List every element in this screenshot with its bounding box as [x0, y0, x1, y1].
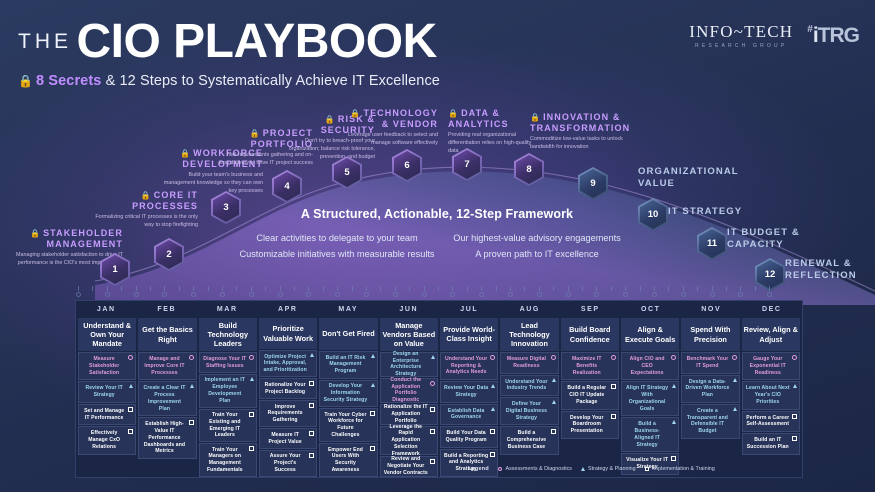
month-column-nov: Spend With PrecisionBenchmark Your IT Sp… [680, 318, 740, 477]
month-column-dec: Review, Align & AdjustGauge Your Exponen… [741, 318, 801, 477]
legend-text: Implementation & Training [652, 466, 715, 472]
tick-dot [422, 292, 427, 297]
square-icon [249, 446, 254, 451]
activity-cell[interactable]: Learn About Next Year's CIO Priorities [742, 381, 800, 409]
month-header-dec: DEC [742, 301, 803, 318]
tick-mark [352, 286, 353, 291]
activity-label: Design an Enterprise Architecture Strate… [384, 351, 428, 378]
activity-cell[interactable]: Measure IT Project Value [259, 428, 317, 449]
square-icon [792, 436, 797, 441]
triangle-icon [491, 384, 495, 388]
activity-label: Conduct the Application Portfolio Diagno… [384, 377, 428, 404]
secret-core-it-processes: 🔒CORE IT PROCESSES Formalizing critical … [95, 190, 198, 230]
month-header-aug: AUG [500, 301, 561, 318]
square-icon [249, 412, 254, 417]
square-icon [611, 414, 616, 419]
step-number-5: 5 [334, 158, 360, 187]
tick-mark [740, 286, 741, 291]
tick-mark [78, 286, 79, 291]
tick-dot [105, 292, 110, 297]
secret-technology-vendor: 🔒TECHNOLOGY & VENDOR Leverage user feedb… [340, 108, 438, 148]
tick-mark [524, 286, 525, 291]
centre-left-line-2: Customizable initiatives with measurable… [237, 246, 437, 262]
activity-label: Implement an IT Employee Development Pla… [203, 377, 247, 404]
activity-label: Rationalize Your Project Backlog [263, 382, 307, 396]
activity-cell[interactable]: Review and Negotiate Your Vendor Contrac… [380, 456, 438, 477]
square-icon [792, 414, 797, 419]
column-heading: Understand & Own Your Mandate [78, 318, 136, 351]
tick-mark [424, 286, 425, 291]
activity-label: Benchmark Your IT Spend [685, 356, 729, 370]
secret-description: Commoditize low-value tasks to unlock ba… [530, 136, 638, 152]
triangle-icon [431, 355, 435, 359]
square-icon [370, 411, 375, 416]
activity-cell[interactable]: Measure Stakeholder Satisfaction [78, 352, 136, 380]
month-header-nov: NOV [681, 301, 742, 318]
activity-label: Set and Manage IT Performance [82, 408, 126, 422]
tick-mark [452, 286, 453, 291]
tick-dot [652, 292, 657, 297]
circle-icon [551, 355, 556, 360]
circle-icon [611, 355, 616, 360]
activity-cell[interactable]: Maximize IT Benefits Realization [561, 352, 619, 380]
centre-col-right: Our highest-value advisory engagements A… [437, 230, 637, 262]
tick-mark [654, 286, 655, 291]
centre-message: A Structured, Actionable, 12-Step Framew… [237, 207, 637, 262]
step-number-4: 4 [274, 172, 300, 201]
tick-mark [380, 286, 381, 291]
tick-mark [308, 286, 309, 291]
activity-cell[interactable]: Gauge Your Exponential IT Readiness [742, 352, 800, 380]
secret-description: Leverage user feedback to select and man… [340, 132, 438, 148]
activity-label: Create a Clear IT Process Improvement Pl… [142, 385, 186, 412]
month-column-sep: Build Board ConfidenceMaximize IT Benefi… [560, 318, 620, 477]
triangle-icon [552, 400, 556, 404]
logo-group: INFO~TECH RESEARCH GROUP # iTRG [689, 22, 859, 49]
tick-dot [710, 292, 715, 297]
triangle-icon [491, 407, 495, 411]
activity-label: Improve Requirements Gathering [263, 404, 307, 424]
month-column-mar: Build Technology LeadersDiagnose Your IT… [198, 318, 258, 477]
square-icon [611, 384, 616, 389]
tick-dot [278, 292, 283, 297]
activity-label: Effectively Manage CxO Relations [82, 430, 126, 450]
activity-cell[interactable]: Conduct the Application Portfolio Diagno… [380, 378, 438, 403]
tick-mark [121, 286, 122, 291]
activity-label: Build a Regular CIO IT Update Package [565, 385, 609, 405]
square-icon [309, 403, 314, 408]
lock-icon: 🔒 [18, 74, 33, 88]
tick-mark [769, 286, 770, 291]
triangle-icon [672, 384, 676, 388]
square-icon [189, 420, 194, 425]
month-header-feb: FEB [137, 301, 198, 318]
tick-mark [568, 286, 569, 291]
activity-label: Build an IT Succession Plan [746, 437, 790, 451]
tick-mark [539, 286, 540, 291]
triangle-icon [371, 354, 375, 358]
column-heading: Spend With Precision [681, 318, 739, 351]
tick-mark [150, 286, 151, 291]
triangle-icon [250, 377, 254, 381]
month-column-may: Don't Get FiredBuild an IT Risk Manageme… [318, 318, 378, 477]
tick-mark [92, 286, 93, 291]
activity-label: Understand Your Industry Trends [504, 379, 548, 393]
step-number-11: 11 [699, 229, 725, 258]
column-heading: Build Technology Leaders [199, 318, 257, 351]
activity-label: Empower End Users With Security Awarenes… [323, 447, 367, 474]
step-number-9: 9 [580, 169, 606, 198]
activity-cell[interactable]: Effectively Manage CxO Relations [78, 426, 136, 454]
triangle-icon [190, 384, 194, 388]
tick-dot [306, 292, 311, 297]
activity-cell[interactable]: Rationalize the IT Application Portfolio [380, 404, 438, 425]
activity-label: Build a Comprehensive Business Case [504, 430, 548, 450]
tick-mark [366, 286, 367, 291]
circle-icon [792, 355, 797, 360]
activity-cell[interactable]: Build an IT Succession Plan [742, 433, 800, 455]
activity-cell[interactable]: Implement an IT Employee Development Pla… [199, 374, 257, 408]
circle-icon [490, 355, 495, 360]
activity-cell[interactable]: Establish High-Value IT Performance Dash… [138, 417, 196, 459]
activity-label: Define Your Digital Business Strategy [504, 401, 548, 421]
activity-label: Perform a Career Self-Assessment [746, 415, 790, 429]
centre-right-line-1: Our highest-value advisory engagements [437, 230, 637, 246]
activity-cell[interactable]: Build Your Data Quality Program [440, 426, 498, 448]
column-heading: Align & Execute Goals [621, 318, 679, 351]
activity-cell[interactable]: Rationalize Your Project Backlog [259, 378, 317, 399]
square-icon [370, 446, 375, 451]
activity-cell[interactable]: Review Your IT Strategy [78, 381, 136, 403]
activity-cell[interactable]: Assure Your Project's Success [259, 450, 317, 477]
timeline-tick-strip [78, 286, 778, 298]
activity-label: Develop Your Information Security Strate… [323, 383, 367, 403]
step-label-organizational-value: ORGANIZATIONAL VALUE [638, 166, 758, 190]
month-header-jun: JUN [379, 301, 440, 318]
itrg-logo: # iTRG [807, 24, 859, 48]
square-icon [490, 452, 495, 457]
secret-innovation-transformation: 🔒INNOVATION & TRANSFORMATION Commoditize… [530, 112, 638, 152]
activity-cell[interactable]: Review Your Data Strategy [440, 381, 498, 403]
title-the: THE [18, 30, 72, 54]
triangle-icon [672, 420, 676, 424]
column-heading: Review, Align & Adjust [742, 318, 800, 351]
tick-mark [596, 286, 597, 291]
legend-item-assessments: Assessments & Diagnostics [498, 466, 572, 472]
tick-mark [683, 286, 684, 291]
activity-cell[interactable]: Build a Business-Aligned IT Strategy [621, 417, 679, 452]
activity-label: Build an IT Risk Management Program [323, 355, 367, 375]
activity-cell[interactable]: Build a Regular CIO IT Update Package [561, 381, 619, 409]
activity-label: Review Your Data Strategy [444, 385, 488, 399]
activity-label: Train Your Existing and Emerging IT Lead… [203, 412, 247, 439]
month-header-oct: OCT [621, 301, 682, 318]
tick-mark [294, 286, 295, 291]
subtitle-rest: & 12 Steps to Systematically Achieve IT … [106, 73, 440, 89]
lock-icon: 🔒 [250, 129, 261, 138]
tick-dot [191, 292, 196, 297]
legend-text: Strategy & Planning [588, 466, 636, 472]
tick-dot [537, 292, 542, 297]
page-subtitle: 🔒8 Secrets & 12 Steps to Systematically … [18, 73, 440, 89]
centre-left-line-1: Clear activities to delegate to your tea… [237, 230, 437, 246]
activity-cell[interactable]: Understand Your Industry Trends [500, 375, 558, 397]
legend: Legend Assessments & Diagnostics Strateg… [468, 466, 715, 472]
tick-dot [364, 292, 369, 297]
triangle-icon [310, 353, 314, 357]
square-icon [309, 453, 314, 458]
tick-dot [479, 292, 484, 297]
square-icon [645, 467, 650, 472]
step-label-renewal-reflection: RENEWAL & REFLECTION [785, 258, 870, 282]
tick-mark [755, 286, 756, 291]
tick-dot [162, 292, 167, 297]
info-tech-tagline: RESEARCH GROUP [689, 43, 793, 49]
activity-cell[interactable]: Design a Data-Driven Workforce Plan [681, 375, 739, 403]
activity-label: Measure Stakeholder Satisfaction [82, 356, 126, 376]
column-heading: Lead Technology Innovation [500, 318, 558, 351]
month-columns: Understand & Own Your MandateMeasure Sta… [76, 318, 802, 478]
lock-icon: 🔒 [180, 149, 191, 158]
activity-cell[interactable]: Perform a Career Self-Assessment [742, 411, 800, 433]
activity-cell[interactable]: Build a Reporting and Analytics Strategy [440, 449, 498, 477]
activity-cell[interactable]: Leverage the Rapid Application Selection… [380, 426, 438, 455]
tick-mark [496, 286, 497, 291]
tick-mark [179, 286, 180, 291]
square-icon [490, 429, 495, 434]
legend-text: Assessments & Diagnostics [505, 466, 572, 472]
activity-cell[interactable]: Train Your Existing and Emerging IT Lead… [199, 409, 257, 443]
page-title: CIO PLAYBOOK [76, 18, 436, 66]
month-header-jul: JUL [439, 301, 500, 318]
activity-label: Train Your Cyber Workforce for Future Ch… [323, 412, 367, 439]
lock-icon: 🔒 [350, 109, 361, 118]
tick-mark [409, 286, 410, 291]
square-icon [430, 429, 435, 434]
legend-label: Legend [468, 466, 489, 472]
tick-mark [438, 286, 439, 291]
tick-dot [220, 292, 225, 297]
step-number-8: 8 [516, 155, 542, 184]
info-tech-wordmark: INFO~TECH [689, 22, 793, 42]
tick-mark [107, 286, 108, 291]
tick-mark [640, 286, 641, 291]
step-number-1: 1 [102, 255, 128, 284]
activity-label: Leverage the Rapid Application Selection… [384, 424, 428, 458]
activity-cell[interactable]: Measure Digital Readiness [500, 352, 558, 374]
tick-dot [393, 292, 398, 297]
twelve-month-table: JANFEBMARAPRMAYJUNJULAUGSEPOCTNOVDEC Und… [75, 300, 803, 478]
activity-label: Understand Your Reporting & Analytics Ne… [444, 356, 488, 376]
framework-heading: A Structured, Actionable, 12-Step Framew… [237, 207, 637, 221]
activity-cell[interactable]: Align IT Strategy With Organizational Go… [621, 381, 679, 416]
activity-label: Optimize Project Intake, Approval, and P… [263, 354, 307, 374]
itrg-trg: TRG [818, 24, 859, 47]
activity-cell[interactable]: Build an IT Risk Management Program [319, 351, 377, 378]
tick-mark [251, 286, 252, 291]
subtitle-accent: 8 Secrets [36, 73, 101, 89]
square-icon [128, 407, 133, 412]
secret-description: Formalizing critical IT processes is the… [95, 214, 198, 230]
triangle-icon [129, 384, 133, 388]
tick-mark [611, 286, 612, 291]
activity-label: Develop Your Boardroom Presentation [565, 415, 609, 435]
lock-icon: 🔒 [141, 191, 152, 200]
lock-icon: 🔒 [530, 113, 541, 122]
activity-cell[interactable]: Benchmark Your IT Spend [681, 352, 739, 374]
square-icon [430, 459, 435, 464]
activity-label: Review Your IT Strategy [82, 385, 126, 399]
tick-mark [164, 286, 165, 291]
tick-mark [193, 286, 194, 291]
square-icon [309, 381, 314, 386]
tick-mark [265, 286, 266, 291]
tick-dot [134, 292, 139, 297]
activity-cell[interactable]: Improve Requirements Gathering [259, 400, 317, 427]
month-header-jan: JAN [76, 301, 137, 318]
tick-mark [395, 286, 396, 291]
tick-mark [712, 286, 713, 291]
tick-dot [681, 292, 686, 297]
month-column-jan: Understand & Own Your MandateMeasure Sta… [77, 318, 137, 477]
circle-icon [249, 355, 254, 360]
activity-label: Align CIO and CEO Expectations [625, 356, 669, 376]
activity-label: Align IT Strategy With Organizational Go… [625, 385, 669, 412]
activity-cell[interactable]: Align CIO and CEO Expectations [621, 352, 679, 380]
centre-col-left: Clear activities to delegate to your tea… [237, 230, 437, 262]
column-heading: Get the Basics Right [138, 318, 196, 351]
column-heading: Manage Vendors Based on Value [380, 318, 438, 351]
tick-mark [553, 286, 554, 291]
triangle-icon [733, 407, 737, 411]
activity-cell[interactable]: Create a Clear IT Process Improvement Pl… [138, 381, 196, 416]
tick-dot [566, 292, 571, 297]
circle-icon [430, 381, 435, 386]
activity-cell[interactable]: Empower End Users With Security Awarenes… [319, 443, 377, 477]
activity-label: Review and Negotiate Your Vendor Contrac… [384, 456, 428, 476]
tick-dot [450, 292, 455, 297]
month-header-row: JANFEBMARAPRMAYJUNJULAUGSEPOCTNOVDEC [76, 301, 802, 318]
month-column-jul: Provide World-Class InsightUnderstand Yo… [439, 318, 499, 477]
month-column-aug: Lead Technology InnovationMeasure Digita… [499, 318, 559, 477]
legend-item-strategy: Strategy & Planning [581, 466, 636, 472]
lock-icon: 🔒 [325, 115, 336, 124]
tick-mark [323, 286, 324, 291]
circle-icon [128, 355, 133, 360]
step-number-3: 3 [213, 193, 239, 222]
secret-data-analytics: 🔒DATA & ANALYTICS Providing real organiz… [448, 108, 540, 156]
month-column-apr: Prioritize Valuable WorkOptimize Project… [258, 318, 318, 477]
triangle-icon [793, 384, 797, 388]
activity-cell[interactable]: Set and Manage IT Performance [78, 404, 136, 426]
step-number-7: 7 [454, 150, 480, 179]
month-header-apr: APR [258, 301, 319, 318]
activity-label: Build a Business-Aligned IT Strategy [625, 421, 669, 448]
activity-label: Train Your Managers on Management Fundam… [203, 447, 247, 474]
tick-mark [510, 286, 511, 291]
lock-icon: 🔒 [30, 229, 41, 238]
triangle-icon [733, 378, 737, 382]
activity-cell[interactable]: Understand Your Reporting & Analytics Ne… [440, 352, 498, 380]
step-number-2: 2 [156, 240, 182, 269]
legend-item-implementation: Implementation & Training [645, 466, 715, 472]
activity-label: Design a Data-Driven Workforce Plan [685, 379, 729, 399]
tick-dot [594, 292, 599, 297]
tick-mark [467, 286, 468, 291]
month-header-may: MAY [318, 301, 379, 318]
activity-label: Maximize IT Benefits Realization [565, 356, 609, 376]
activity-cell[interactable]: Train Your Managers on Management Fundam… [199, 443, 257, 477]
tick-dot [76, 292, 81, 297]
activity-cell[interactable]: Create a Transparent and Defensible IT B… [681, 404, 739, 439]
tick-mark [726, 286, 727, 291]
month-header-sep: SEP [560, 301, 621, 318]
tick-mark [222, 286, 223, 291]
lock-icon: 🔒 [448, 109, 459, 118]
activity-label: Learn About Next Year's CIO Priorities [746, 385, 790, 405]
activity-label: Establish Data Governance [444, 408, 488, 422]
tick-mark [208, 286, 209, 291]
step-number-12: 12 [757, 260, 783, 289]
month-column-oct: Align & Execute GoalsAlign CIO and CEO E… [620, 318, 680, 477]
column-heading: Build Board Confidence [561, 318, 619, 351]
activity-cell[interactable]: Build a Comprehensive Business Case [500, 426, 558, 454]
activity-label: Gauge Your Exponential IT Readiness [746, 356, 790, 376]
tick-dot [249, 292, 254, 297]
activity-cell[interactable]: Optimize Project Intake, Approval, and P… [259, 350, 317, 377]
activity-cell[interactable]: Train Your Cyber Workforce for Future Ch… [319, 408, 377, 442]
activity-label: Diagnose Your IT Staffing Issues [203, 356, 247, 370]
secret-description: Build your team's business and managemen… [160, 172, 263, 195]
triangle-icon [371, 383, 375, 387]
centre-right-line-2: A proven path to IT excellence [437, 246, 637, 262]
activity-cell[interactable]: Design an Enterprise Architecture Strate… [380, 352, 438, 377]
square-icon [309, 431, 314, 436]
column-heading: Don't Get Fired [319, 318, 377, 350]
activity-cell[interactable]: Manage and Improve Core IT Processes [138, 352, 196, 380]
activity-cell[interactable]: Develop Your Boardroom Presentation [561, 411, 619, 439]
activity-label: Create a Transparent and Defensible IT B… [685, 408, 729, 435]
activity-label: Measure Digital Readiness [504, 356, 548, 370]
triangle-icon [581, 467, 585, 471]
triangle-icon [552, 378, 556, 382]
tick-dot [335, 292, 340, 297]
square-icon [128, 429, 133, 434]
tick-mark [236, 286, 237, 291]
tick-mark [697, 286, 698, 291]
activity-label: Establish High-Value IT Performance Dash… [142, 421, 186, 455]
step-label-it-strategy: IT STRATEGY [668, 206, 742, 218]
activity-label: Rationalize the IT Application Portfolio [384, 404, 428, 424]
tick-dot [767, 292, 772, 297]
month-column-jun: Manage Vendors Based on ValueDesign an E… [379, 318, 439, 477]
activity-cell[interactable]: Develop Your Information Security Strate… [319, 380, 377, 407]
column-heading: Provide World-Class Insight [440, 318, 498, 351]
tick-mark [582, 286, 583, 291]
activity-cell[interactable]: Diagnose Your IT Staffing Issues [199, 352, 257, 373]
circle-icon [498, 467, 503, 472]
tick-dot [508, 292, 513, 297]
tick-dot [623, 292, 628, 297]
activity-cell[interactable]: Establish Data Governance [440, 404, 498, 426]
info-tech-logo: INFO~TECH RESEARCH GROUP [689, 22, 793, 49]
activity-cell[interactable]: Define Your Digital Business Strategy [500, 397, 558, 425]
column-heading: Prioritize Valuable Work [259, 318, 317, 349]
infographic-root: THE CIO PLAYBOOK 🔒8 Secrets & 12 Steps t… [0, 0, 875, 492]
activity-label: Manage and Improve Core IT Processes [142, 356, 186, 376]
tick-mark [280, 286, 281, 291]
month-column-feb: Get the Basics RightManage and Improve C… [137, 318, 197, 477]
